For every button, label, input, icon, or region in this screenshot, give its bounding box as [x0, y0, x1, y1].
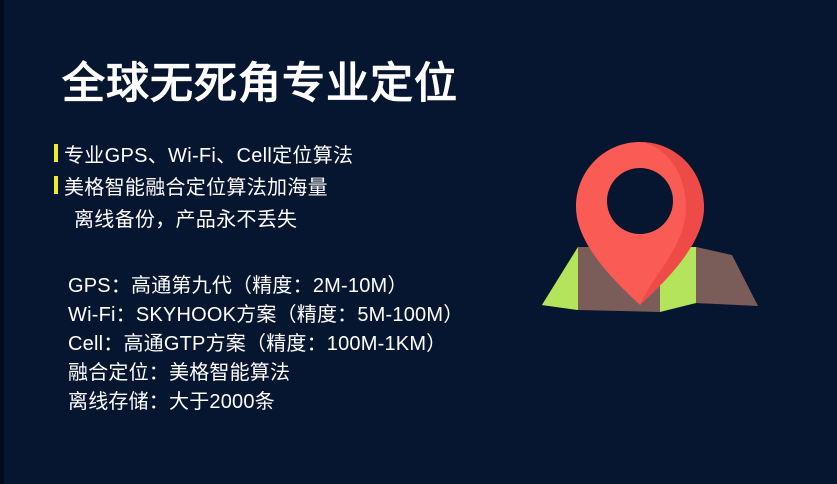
bullet-marker-icon — [54, 176, 58, 194]
spec-row-gps: GPS：高通第九代（精度：2M-10M） — [68, 272, 498, 301]
bullet-item-label: 离线备份，产品永不丢失 — [74, 203, 297, 232]
spec-row-wifi: Wi-Fi：SKYHOOK方案（精度：5M-100M） — [68, 301, 498, 330]
bullet-item-label: 专业GPS、Wi-Fi、Cell定位算法 — [64, 139, 353, 168]
bullet-item-label: 美格智能融合定位算法加海量 — [64, 171, 328, 200]
pin-hole — [607, 168, 673, 234]
spec-row-offline: 离线存储：大于2000条 — [68, 388, 498, 417]
spec-row-cell: Cell：高通GTP方案（精度：100M-1KM） — [68, 330, 498, 359]
page-title: 全球无死角专业定位 — [62, 62, 458, 107]
bullet-item: 美格智能融合定位算法加海量 — [54, 170, 494, 200]
bullet-item-continuation: 离线备份，产品永不丢失 — [54, 202, 494, 232]
slide-root: 全球无死角专业定位 专业GPS、Wi-Fi、Cell定位算法 美格智能融合定位算… — [0, 0, 837, 484]
map-pin-illustration — [500, 100, 800, 380]
spec-list: GPS：高通第九代（精度：2M-10M） Wi-Fi：SKYHOOK方案（精度：… — [68, 272, 498, 417]
bullet-item: 专业GPS、Wi-Fi、Cell定位算法 — [54, 138, 494, 168]
bullet-marker-icon — [54, 144, 58, 162]
bullet-marker-placeholder-icon — [64, 208, 68, 226]
map-right-wing — [696, 247, 758, 306]
text-column: 全球无死角专业定位 专业GPS、Wi-Fi、Cell定位算法 美格智能融合定位算… — [0, 0, 520, 484]
bullet-list: 专业GPS、Wi-Fi、Cell定位算法 美格智能融合定位算法加海量 离线备份，… — [54, 138, 494, 234]
spec-row-fusion: 融合定位：美格智能算法 — [68, 359, 498, 388]
